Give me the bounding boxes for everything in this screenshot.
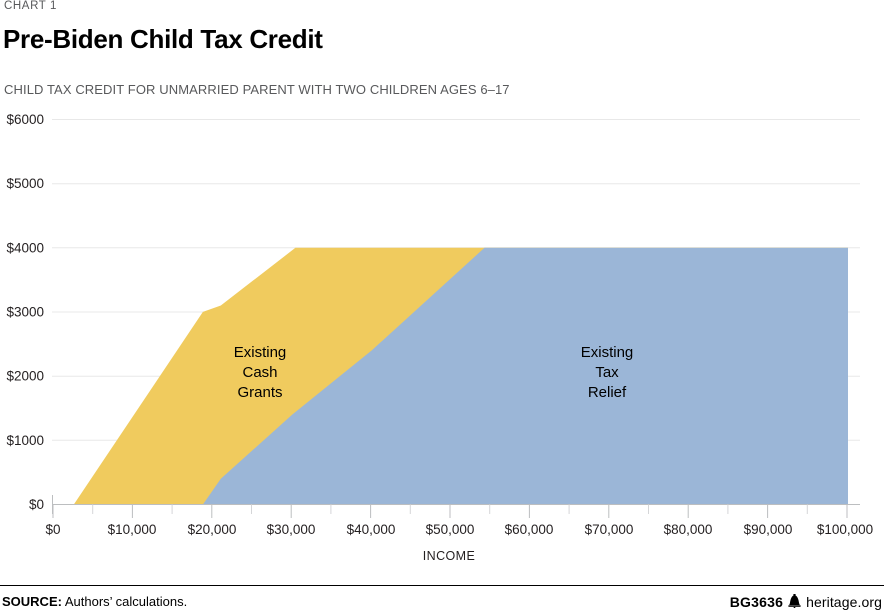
series-label-line: Tax — [595, 364, 619, 381]
series-label-line: Cash — [242, 364, 277, 381]
x-tick-label: $80,000 — [664, 522, 713, 537]
footer-branding: BG3636 heritage.org — [730, 594, 882, 610]
x-tick-label: $30,000 — [267, 522, 316, 537]
x-tick-label: $40,000 — [347, 522, 396, 537]
y-tick-label: $6000 — [6, 112, 44, 127]
x-tick-label: $90,000 — [744, 522, 793, 537]
liberty-bell-icon — [788, 594, 801, 610]
area-chart: $6000 $5000 $4000 $3000 $2000 $1000 $0 $… — [0, 0, 884, 614]
series-label-line: Relief — [588, 384, 627, 401]
series-label-line: Existing — [581, 344, 634, 361]
x-tick-label: $100,000 — [817, 522, 873, 537]
x-tick-label: $0 — [45, 522, 60, 537]
y-axis-labels: $6000 $5000 $4000 $3000 $2000 $1000 $0 — [6, 112, 44, 512]
website-label: heritage.org — [806, 594, 882, 610]
y-tick-label: $1000 — [6, 433, 44, 448]
x-axis-labels: $0 $10,000 $20,000 $30,000 $40,000 $50,0… — [45, 522, 873, 537]
x-tick-label: $50,000 — [426, 522, 475, 537]
report-code: BG3636 — [730, 594, 783, 610]
series-label-line: Grants — [237, 384, 282, 401]
x-axis-title: INCOME — [423, 549, 475, 563]
footer-divider — [0, 585, 884, 586]
y-tick-label: $3000 — [6, 305, 44, 320]
y-tick-label: $2000 — [6, 369, 44, 384]
series-label-line: Existing — [234, 344, 287, 361]
y-tick-label: $5000 — [6, 176, 44, 191]
source-note: SOURCE: Authors’ calculations. — [2, 594, 187, 609]
source-value: Authors’ calculations. — [65, 594, 187, 609]
x-tick-label: $10,000 — [108, 522, 157, 537]
y-tick-label: $4000 — [6, 240, 44, 255]
source-label: SOURCE: — [2, 594, 62, 609]
x-tick-label: $70,000 — [585, 522, 634, 537]
x-tick-label: $20,000 — [188, 522, 237, 537]
x-tick-label: $60,000 — [505, 522, 554, 537]
y-tick-label: $0 — [29, 497, 44, 512]
series-areas — [74, 248, 848, 505]
